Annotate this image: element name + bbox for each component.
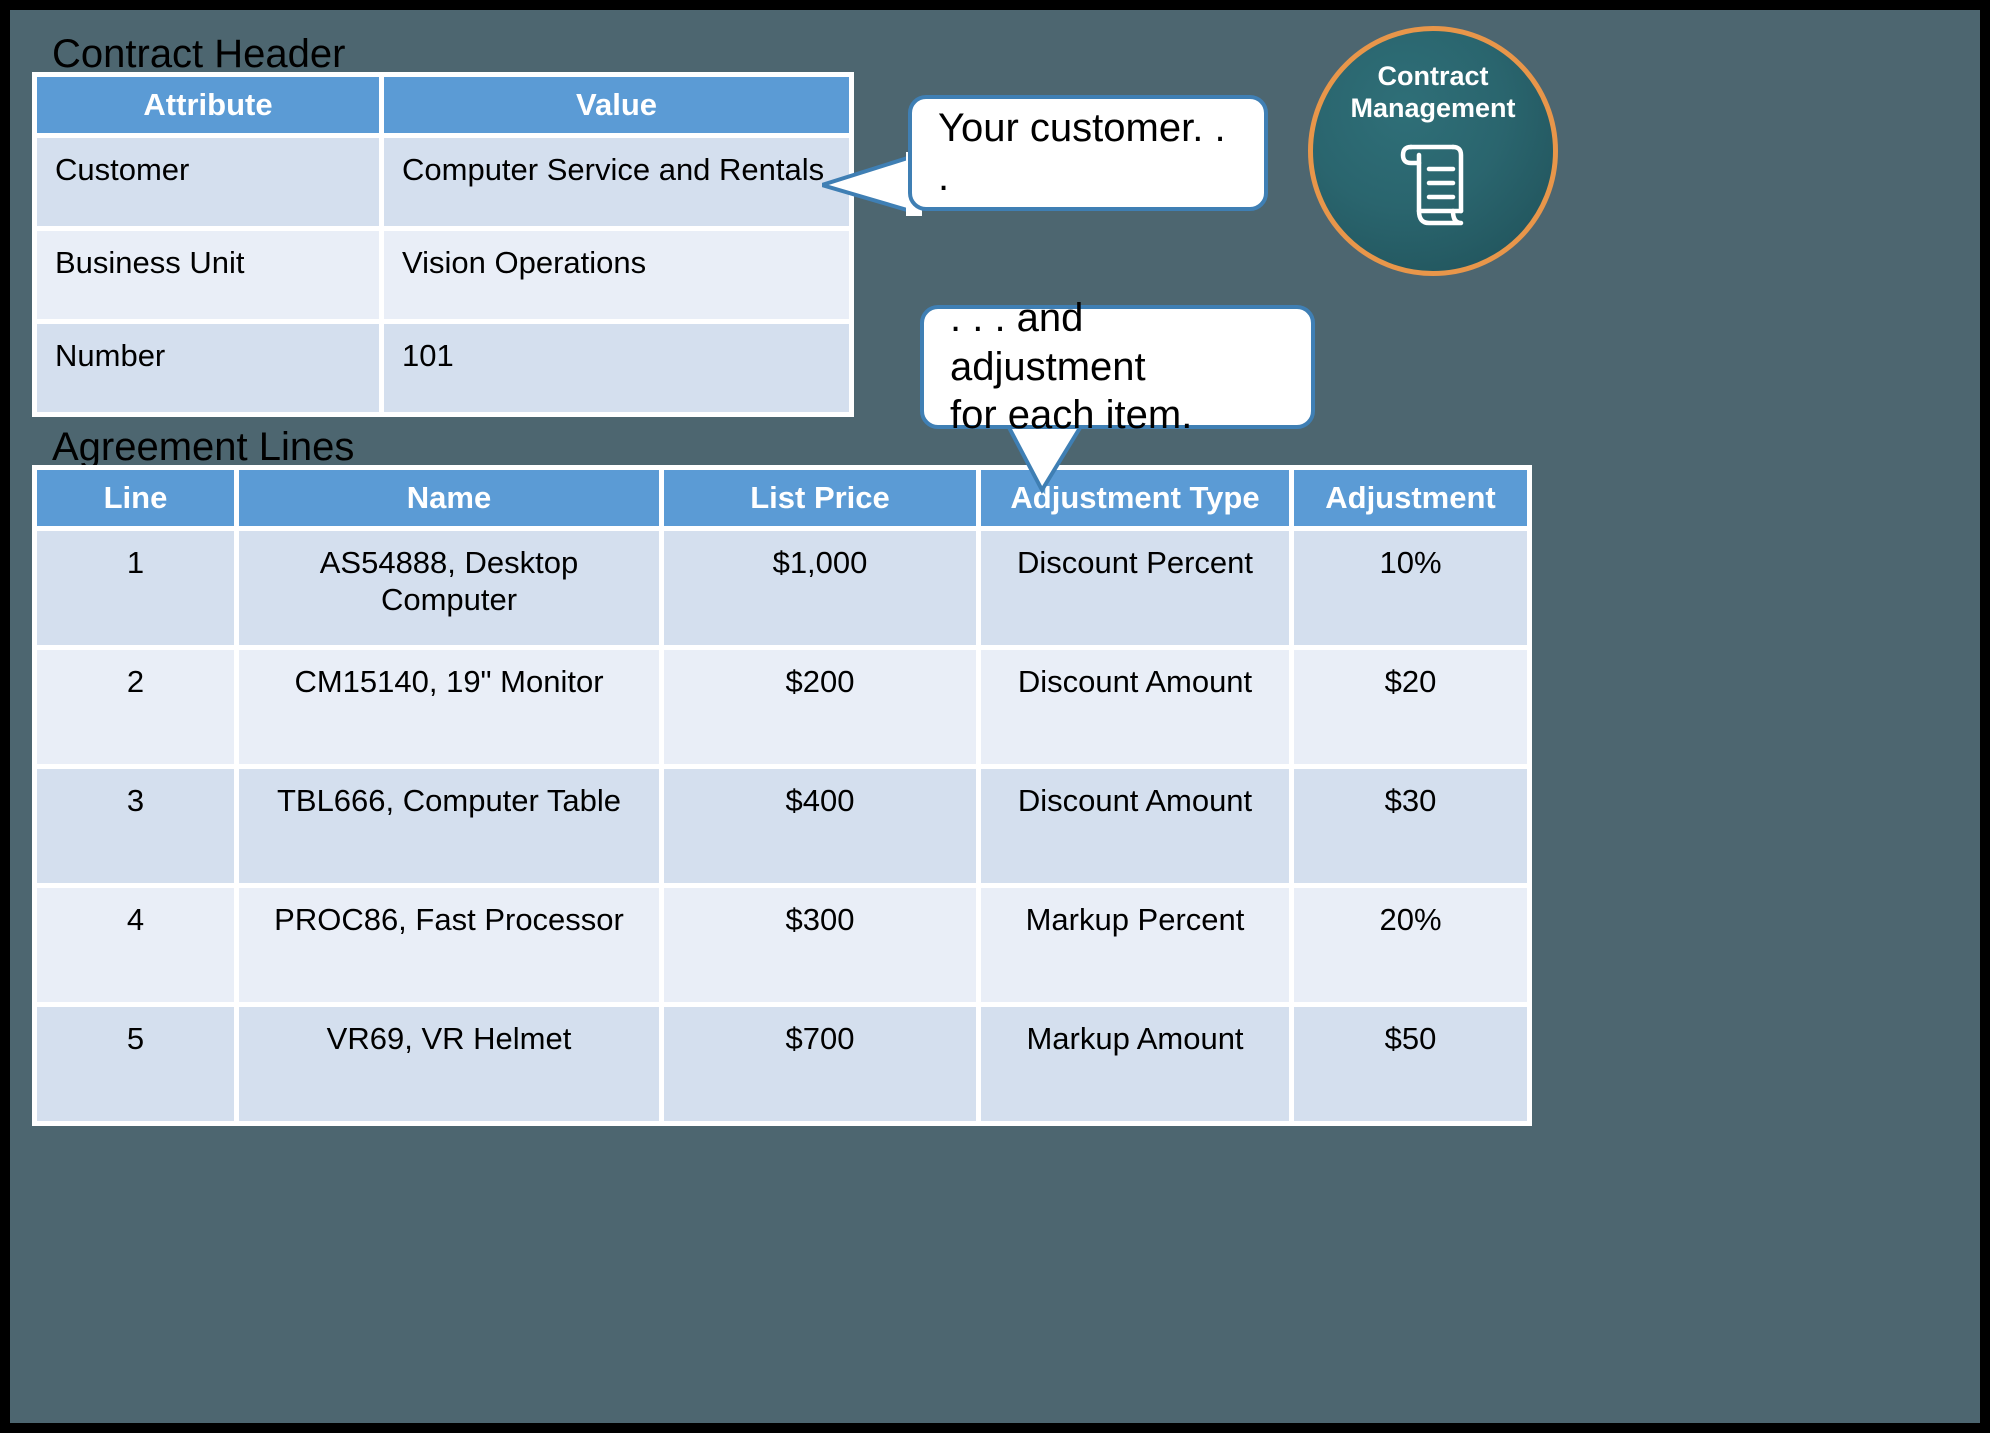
slide-canvas: Contract Header Attribute Value Customer…	[10, 10, 1980, 1423]
column-header-value: Value	[384, 77, 849, 133]
cell-attribute: Customer	[37, 138, 379, 226]
cell-list-price: $700	[664, 1007, 976, 1121]
cell-adjustment: $50	[1294, 1007, 1527, 1121]
cell-adjustment-type: Discount Percent	[981, 531, 1289, 645]
cell-adjustment: 20%	[1294, 888, 1527, 1002]
cell-attribute: Business Unit	[37, 231, 379, 319]
callout-customer-text: Your customer. . .	[912, 104, 1264, 202]
cell-value: Vision Operations	[384, 231, 849, 319]
cell-adjustment-type: Discount Amount	[981, 769, 1289, 883]
cell-line: 3	[37, 769, 234, 883]
contract-header-title: Contract Header	[52, 32, 345, 77]
cell-adjustment-type: Markup Amount	[981, 1007, 1289, 1121]
callout-adjustment: . . . and adjustment for each item.	[920, 305, 1315, 429]
table-row: Business Unit Vision Operations	[37, 231, 849, 319]
callout-adjustment-text: . . . and adjustment for each item.	[924, 294, 1311, 440]
cell-adjustment: 10%	[1294, 531, 1527, 645]
column-header-attribute: Attribute	[37, 77, 379, 133]
column-header-list-price: List Price	[664, 470, 976, 526]
table-header-row: Attribute Value	[37, 77, 849, 133]
scroll-document-icon	[1389, 135, 1477, 236]
callout-customer: Your customer. . .	[908, 95, 1268, 211]
column-header-adjustment: Adjustment	[1294, 470, 1527, 526]
table-row: Customer Computer Service and Rentals	[37, 138, 849, 226]
cell-name: CM15140, 19" Monitor	[239, 650, 659, 764]
contract-header-table: Attribute Value Customer Computer Servic…	[32, 72, 854, 417]
cell-list-price: $300	[664, 888, 976, 1002]
table-row: Number 101	[37, 324, 849, 412]
cell-name: AS54888, Desktop Computer	[239, 531, 659, 645]
table-row: 1 AS54888, Desktop Computer $1,000 Disco…	[37, 531, 1527, 645]
cell-adjustment: $30	[1294, 769, 1527, 883]
cell-line: 4	[37, 888, 234, 1002]
cell-line: 5	[37, 1007, 234, 1121]
column-header-name: Name	[239, 470, 659, 526]
agreement-lines-table: Line Name List Price Adjustment Type Adj…	[32, 465, 1532, 1126]
contract-management-badge[interactable]: Contract Management	[1308, 26, 1558, 276]
cell-list-price: $400	[664, 769, 976, 883]
cell-list-price: $1,000	[664, 531, 976, 645]
column-header-line: Line	[37, 470, 234, 526]
cell-adjustment-type: Discount Amount	[981, 650, 1289, 764]
cell-value: 101	[384, 324, 849, 412]
cell-line: 2	[37, 650, 234, 764]
cell-value: Computer Service and Rentals	[384, 138, 849, 226]
cell-name: VR69, VR Helmet	[239, 1007, 659, 1121]
callout-customer-tail	[822, 130, 922, 220]
table-row: 4 PROC86, Fast Processor $300 Markup Per…	[37, 888, 1527, 1002]
table-row: 2 CM15140, 19" Monitor $200 Discount Amo…	[37, 650, 1527, 764]
cell-name: PROC86, Fast Processor	[239, 888, 659, 1002]
table-row: 3 TBL666, Computer Table $400 Discount A…	[37, 769, 1527, 883]
agreement-lines-title: Agreement Lines	[52, 425, 354, 470]
table-header-row: Line Name List Price Adjustment Type Adj…	[37, 470, 1527, 526]
cell-line: 1	[37, 531, 234, 645]
badge-title: Contract Management	[1350, 61, 1515, 125]
cell-attribute: Number	[37, 324, 379, 412]
table-row: 5 VR69, VR Helmet $700 Markup Amount $50	[37, 1007, 1527, 1121]
cell-adjustment-type: Markup Percent	[981, 888, 1289, 1002]
cell-list-price: $200	[664, 650, 976, 764]
cell-name: TBL666, Computer Table	[239, 769, 659, 883]
cell-adjustment: $20	[1294, 650, 1527, 764]
